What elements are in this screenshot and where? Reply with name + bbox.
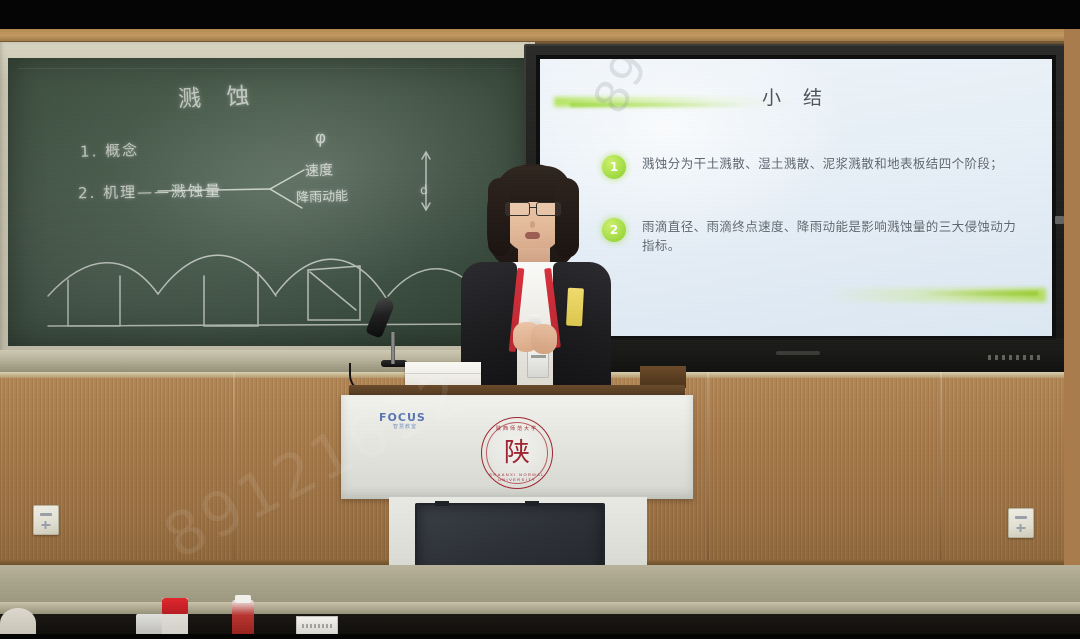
presenter-hair-left (488, 178, 510, 256)
slide-bullet-1: 1 溅蚀分为干土溅散、湿土溅散、泥浆溅散和地表板结四个阶段； (602, 154, 1022, 179)
slide-decoration-bottom-accent (918, 291, 1038, 296)
wall-panel-seam (707, 372, 709, 577)
crest-top-text: 陕西师范大学 (482, 425, 552, 432)
presenter-jacket-right (553, 262, 611, 394)
microphone-stem (391, 332, 395, 364)
wall-panel-seam (233, 372, 235, 577)
desk-item-white-box (296, 616, 338, 635)
chalk-diagram-svg (8, 58, 528, 346)
display-speaker-grille (988, 355, 1044, 360)
crest-bottom-text: SHAANXI NORMAL UNIVERSITY (482, 472, 552, 482)
presenter-mouth (525, 232, 540, 239)
blackboard-surface: 溅 蚀 1. 概念 2. 机理——溅蚀量 φ 速度 降雨动能 d (8, 58, 528, 346)
crest-glyph: 陕 (504, 440, 530, 466)
monitor-hinge (435, 501, 449, 506)
podium-front-panel: FOCUS 智慧教室 陕西师范大学 陕 SHAANXI NORMAL UNIVE… (341, 395, 693, 499)
wall-panel-seam (940, 372, 942, 577)
presenter (455, 164, 615, 394)
presenter-hair-right (555, 178, 579, 258)
focus-brand-sublabel: 智慧教室 (393, 423, 417, 430)
power-outlet-right[interactable] (1008, 508, 1034, 538)
display-ir-sensor (776, 351, 820, 355)
letterbox-bottom-bar (0, 634, 1080, 639)
desk-item-red-cap-jar (162, 598, 188, 636)
lecture-video-frame: 溅 蚀 1. 概念 2. 机理——溅蚀量 φ 速度 降雨动能 d (0, 0, 1080, 639)
slide-title: 小 结 (540, 83, 1052, 110)
letterbox-top-bar (0, 0, 1080, 29)
right-wall-column (1064, 28, 1080, 639)
bullet-text: 雨滴直径、雨滴终点速度、降雨动能是影响溅蚀量的三大侵蚀动力指标。 (642, 217, 1022, 255)
bullet-text: 溅蚀分为干土溅散、湿土溅散、泥浆溅散和地表板结四个阶段； (642, 154, 1003, 173)
presenter-glasses (504, 202, 562, 215)
university-crest: 陕西师范大学 陕 SHAANXI NORMAL UNIVERSITY (481, 417, 553, 489)
lecture-podium: FOCUS 智慧教室 陕西师范大学 陕 SHAANXI NORMAL UNIVE… (341, 385, 693, 585)
desk-item-red-contents-bottle (232, 600, 254, 636)
glasses-bridge (530, 207, 537, 208)
presentation-slide: 小 结 89121612 1 溅蚀分为干土溅散、湿土溅散、泥浆溅散和地表板结四个… (540, 59, 1052, 336)
chalk-writing-layer: 溅 蚀 1. 概念 2. 机理——溅蚀量 φ 速度 降雨动能 d (8, 58, 528, 346)
slide-bullet-2: 2 雨滴直径、雨滴终点速度、降雨动能是影响溅蚀量的三大侵蚀动力指标。 (602, 217, 1022, 255)
presenter-nose (530, 221, 535, 228)
presenter-yellow-badge (566, 288, 584, 327)
presenter-hand-right (531, 324, 557, 354)
monitor-hinge (525, 501, 539, 506)
display-side-button[interactable] (1055, 216, 1064, 224)
power-outlet-left[interactable] (33, 505, 59, 535)
